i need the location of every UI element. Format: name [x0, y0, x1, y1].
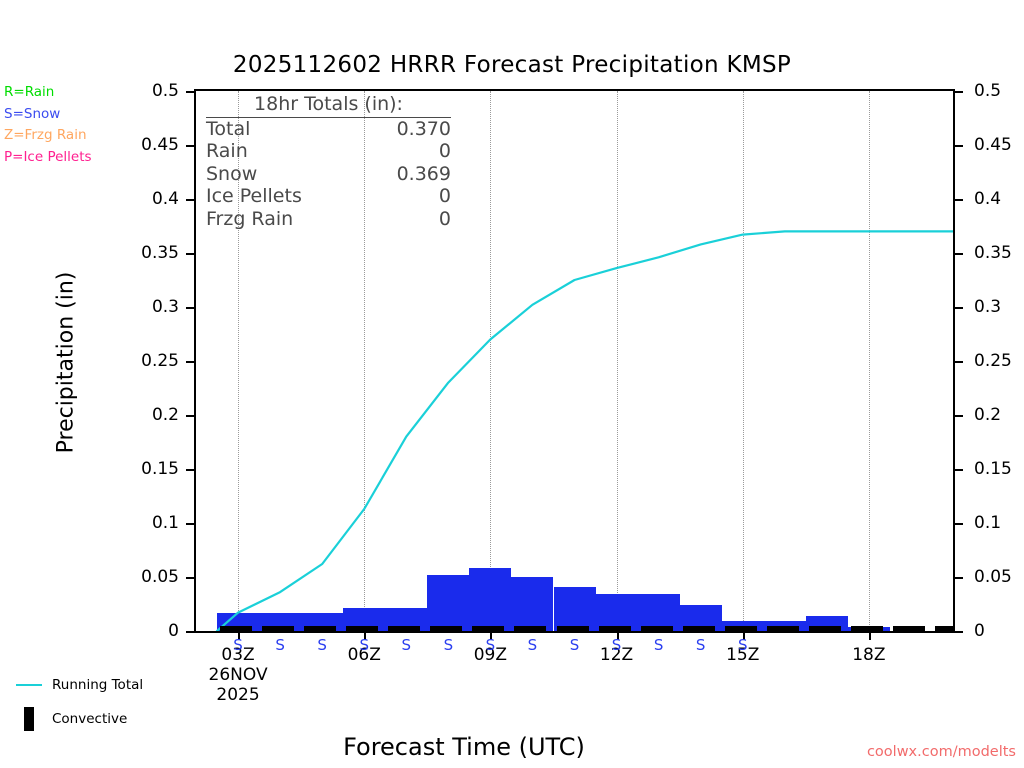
convective-tick — [893, 626, 925, 631]
legend-item-running-total: Running Total — [16, 668, 143, 702]
y-tick-label-left: 0.25 — [119, 351, 179, 371]
x-tick-date-day: 26NOV — [193, 665, 283, 685]
y-tick-mark-right — [955, 577, 963, 579]
legend-label: Convective — [52, 711, 127, 727]
convective-tick — [641, 626, 673, 631]
convective-tick — [599, 626, 631, 631]
convective-tick — [767, 626, 799, 631]
legend-label: Running Total — [52, 677, 143, 693]
y-tick-mark-left — [186, 307, 194, 309]
convective-tick — [809, 626, 841, 631]
line-swatch-icon — [16, 684, 42, 686]
y-tick-label-left: 0.1 — [119, 513, 179, 533]
totals-label: Ice Pellets — [206, 185, 302, 208]
y-tick-label-right: 0.4 — [974, 189, 1024, 209]
y-axis-title: Precipitation (in) — [54, 233, 79, 493]
precip-type-marker-snow: S — [718, 636, 768, 654]
x-tick-date-year: 2025 — [193, 685, 283, 705]
y-tick-mark-right — [955, 91, 963, 93]
key-item-ice-pellets: P=Ice Pellets — [4, 147, 92, 169]
totals-value: 0 — [439, 140, 451, 163]
key-item-snow: S=Snow — [4, 104, 92, 126]
y-tick-mark-right — [955, 469, 963, 471]
y-tick-mark-left — [186, 631, 194, 633]
y-tick-label-left: 0.3 — [119, 297, 179, 317]
precip-type-key: R=Rain S=Snow Z=Frzg Rain P=Ice Pellets — [4, 82, 92, 168]
y-tick-label-right: 0 — [974, 621, 1024, 641]
x-tick-mark — [869, 633, 871, 640]
y-tick-label-right: 0.15 — [974, 459, 1024, 479]
totals-label: Total — [206, 118, 250, 141]
y-tick-mark-right — [955, 415, 963, 417]
totals-label: Snow — [206, 163, 257, 186]
y-tick-mark-left — [186, 415, 194, 417]
convective-tick — [935, 626, 953, 631]
totals-label: Rain — [206, 140, 248, 163]
y-tick-label-left: 0.05 — [119, 567, 179, 587]
totals-value: 0.370 — [397, 118, 451, 141]
totals-row-ice-pellets: Ice Pellets 0 — [206, 185, 451, 208]
y-tick-mark-right — [955, 361, 963, 363]
key-item-frzg-rain: Z=Frzg Rain — [4, 125, 92, 147]
y-tick-mark-right — [955, 523, 963, 525]
y-tick-mark-left — [186, 199, 194, 201]
y-tick-label-right: 0.3 — [974, 297, 1024, 317]
y-tick-mark-left — [186, 145, 194, 147]
x-tick-label: 18Z — [824, 645, 914, 665]
y-tick-label-right: 0.5 — [974, 81, 1024, 101]
y-tick-label-right: 0.2 — [974, 405, 1024, 425]
totals-row-rain: Rain 0 — [206, 140, 451, 163]
page-title: 2025112602 HRRR Forecast Precipitation K… — [0, 52, 1024, 78]
chart-legend: Running Total Convective — [16, 668, 143, 736]
totals-row-frzg-rain: Frzg Rain 0 — [206, 208, 451, 231]
y-tick-label-left: 0.45 — [119, 135, 179, 155]
convective-tick — [430, 626, 462, 631]
y-tick-label-right: 0.05 — [974, 567, 1024, 587]
convective-tick — [262, 626, 294, 631]
y-tick-label-right: 0.25 — [974, 351, 1024, 371]
totals-heading: 18hr Totals (in): — [206, 93, 451, 118]
convective-tick — [851, 626, 883, 631]
totals-row-snow: Snow 0.369 — [206, 163, 451, 186]
convective-tick — [304, 626, 336, 631]
y-tick-mark-right — [955, 145, 963, 147]
y-tick-mark-right — [955, 253, 963, 255]
key-item-rain: R=Rain — [4, 82, 92, 104]
convective-tick — [346, 626, 378, 631]
totals-summary-box: 18hr Totals (in): Total 0.370 Rain 0 Sno… — [206, 93, 451, 231]
totals-value: 0 — [439, 208, 451, 231]
y-tick-mark-left — [186, 253, 194, 255]
totals-row-total: Total 0.370 — [206, 118, 451, 141]
y-tick-mark-left — [186, 361, 194, 363]
convective-tick — [472, 626, 504, 631]
y-tick-label-right: 0.35 — [974, 243, 1024, 263]
watermark: coolwx.com/modelts — [867, 744, 1016, 760]
convective-tick — [683, 626, 715, 631]
totals-value: 0 — [439, 185, 451, 208]
y-tick-mark-left — [186, 91, 194, 93]
box-swatch-icon — [24, 707, 34, 731]
totals-value: 0.369 — [397, 163, 451, 186]
y-tick-label-left: 0.35 — [119, 243, 179, 263]
y-tick-label-left: 0.4 — [119, 189, 179, 209]
y-tick-mark-right — [955, 631, 963, 633]
y-tick-mark-right — [955, 307, 963, 309]
y-tick-mark-right — [955, 199, 963, 201]
totals-label: Frzg Rain — [206, 208, 293, 231]
convective-tick — [514, 626, 546, 631]
y-tick-mark-left — [186, 577, 194, 579]
convective-tick — [388, 626, 420, 631]
y-tick-label-left: 0.5 — [119, 81, 179, 101]
y-tick-mark-left — [186, 469, 194, 471]
x-axis-title: Forecast Time (UTC) — [194, 733, 734, 761]
y-tick-label-right: 0.45 — [974, 135, 1024, 155]
y-tick-mark-left — [186, 523, 194, 525]
y-tick-label-left: 0.15 — [119, 459, 179, 479]
legend-item-convective: Convective — [16, 702, 143, 736]
y-tick-label-right: 0.1 — [974, 513, 1024, 533]
y-tick-label-left: 0.2 — [119, 405, 179, 425]
convective-tick — [220, 626, 252, 631]
convective-tick — [557, 626, 589, 631]
convective-tick — [725, 626, 757, 631]
y-tick-label-left: 0 — [119, 621, 179, 641]
